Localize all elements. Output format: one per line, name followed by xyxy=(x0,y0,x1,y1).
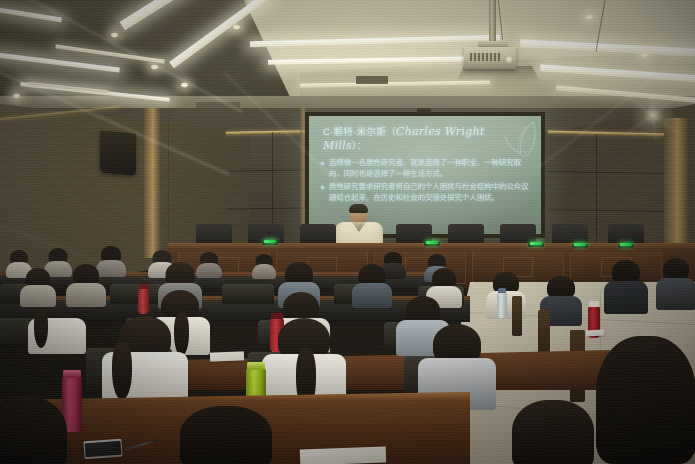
slide-title-english-2: Mills xyxy=(323,139,352,152)
microphone-led xyxy=(426,241,438,244)
wall-panel-seam xyxy=(168,118,169,244)
microphone-led xyxy=(530,242,542,245)
audience-member xyxy=(102,316,188,400)
audience-member xyxy=(594,336,695,464)
projector-mount-pole xyxy=(489,0,496,44)
microphone-led xyxy=(620,243,632,246)
recessed-downlight xyxy=(232,24,241,30)
projector-vent xyxy=(470,53,500,61)
ponytail xyxy=(112,342,132,400)
auditorium-seat xyxy=(222,284,274,304)
recessed-downlight xyxy=(110,32,119,38)
slide-bullet: 选择做一名质性研究者，就是选择了一种职业、一种研究取向，同时也是选择了一种生活方… xyxy=(321,158,532,179)
bottle-cap xyxy=(498,288,506,293)
smartphone[interactable] xyxy=(83,439,122,460)
bottle-cap xyxy=(139,284,148,289)
hair xyxy=(596,336,695,464)
audience-member xyxy=(604,260,648,312)
recessed-downlight xyxy=(150,64,159,70)
torso xyxy=(656,278,695,310)
presenter-hair xyxy=(349,204,368,213)
audience-member xyxy=(178,406,274,464)
bottle-cap xyxy=(247,362,265,370)
recessed-downlight xyxy=(12,93,21,99)
slide-title: C·赖特·米尔斯（Charles Wright Mills）： xyxy=(323,125,531,153)
bottle-cap xyxy=(63,370,81,378)
recessed-downlight xyxy=(585,14,594,20)
hair xyxy=(663,258,689,280)
slide-title-chinese: C·赖特·米尔斯（ xyxy=(323,127,396,138)
recessed-downlight xyxy=(180,82,189,88)
bottle-cap xyxy=(589,301,599,307)
ponytail xyxy=(34,308,48,348)
audience-member xyxy=(262,318,346,404)
hair xyxy=(512,400,594,464)
audience-member xyxy=(510,400,596,464)
recessed-downlight xyxy=(640,52,649,58)
wall-speaker xyxy=(100,130,136,175)
slide-bullet-list: 选择做一名质性研究者，就是选择了一种职业、一种研究取向，同时也是选择了一种生活方… xyxy=(321,158,532,206)
water-bottle xyxy=(497,292,507,318)
torso xyxy=(352,283,392,308)
desk-end-panel xyxy=(512,296,522,336)
lecture-hall-photo: C·赖特·米尔斯（Charles Wright Mills）： 选择做一名质性研… xyxy=(0,0,695,464)
wall-column xyxy=(664,118,690,258)
red-water-bottle xyxy=(138,288,149,314)
torso xyxy=(604,281,648,314)
handout-paper xyxy=(210,351,244,361)
projector-lens xyxy=(505,55,513,63)
slide-title-english: Charles Wright xyxy=(396,125,485,138)
torso xyxy=(252,264,276,279)
handout-paper xyxy=(300,447,387,464)
slide-bullet: 质性研究要求研究者将自己的个人困扰与社会结构中的公众议题结合起来，在历史和社会的… xyxy=(321,182,532,203)
microphone-led xyxy=(574,243,586,246)
slide-title-tail: ）： xyxy=(352,141,367,152)
wall-column xyxy=(144,108,161,258)
ceiling-vent xyxy=(356,76,388,84)
microphone-led xyxy=(264,240,276,243)
hair xyxy=(0,396,67,464)
audience-member xyxy=(28,292,86,352)
audience-member xyxy=(0,396,70,464)
phone-screen[interactable] xyxy=(85,441,122,457)
audience-member xyxy=(252,254,276,278)
hair xyxy=(180,406,272,464)
audience-member xyxy=(352,264,392,306)
audience-desk-row xyxy=(180,350,610,390)
audience-member xyxy=(656,258,695,308)
screen-mount-bracket xyxy=(417,108,431,116)
wall-panel-seam xyxy=(596,134,597,242)
